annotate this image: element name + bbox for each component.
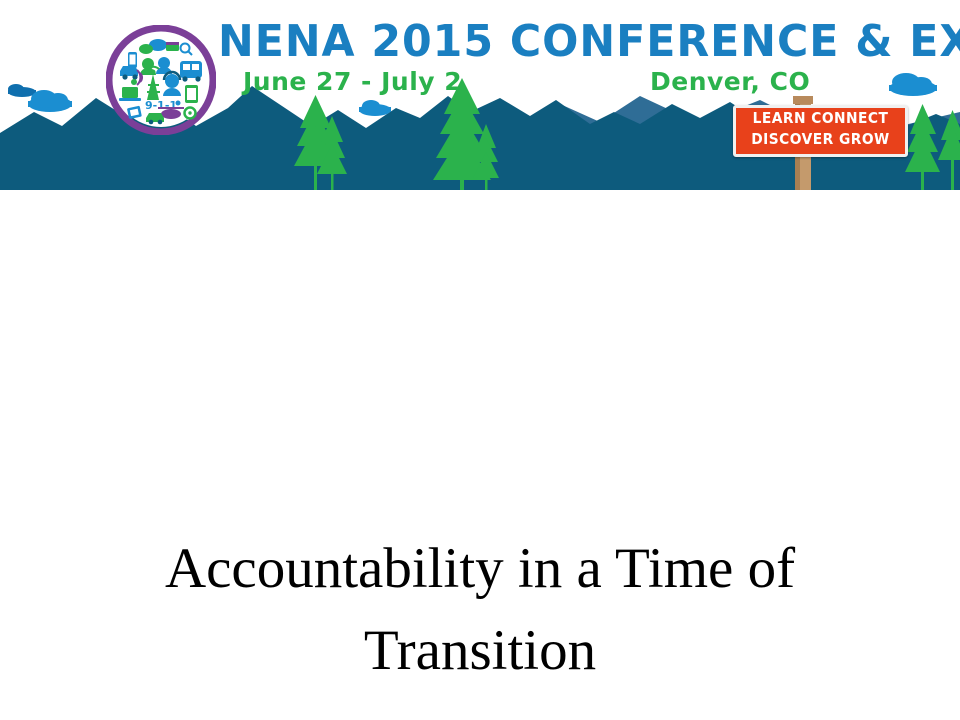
presentation-slide: 9-1-1	[0, 0, 960, 720]
sign-line-1: LEARN CONNECT	[740, 108, 901, 129]
sign-text-block: LEARN CONNECT DISCOVER GROW	[733, 108, 908, 150]
sign-line-2: DISCOVER GROW	[740, 129, 901, 150]
slide-title-line-2: Transition	[80, 610, 880, 692]
nena-logo-graphic: 9-1-1	[106, 25, 216, 135]
slide-title-line-1: Accountability in a Time of	[80, 528, 880, 610]
slide-title: Accountability in a Time of Transition	[80, 528, 880, 692]
sign-learn-connect-discover-grow: LEARN CONNECT DISCOVER GROW	[733, 105, 908, 157]
slide-body: Accountability in a Time of Transition	[0, 190, 960, 720]
nena-logo: 9-1-1	[106, 25, 216, 135]
conference-banner: 9-1-1	[0, 0, 960, 190]
